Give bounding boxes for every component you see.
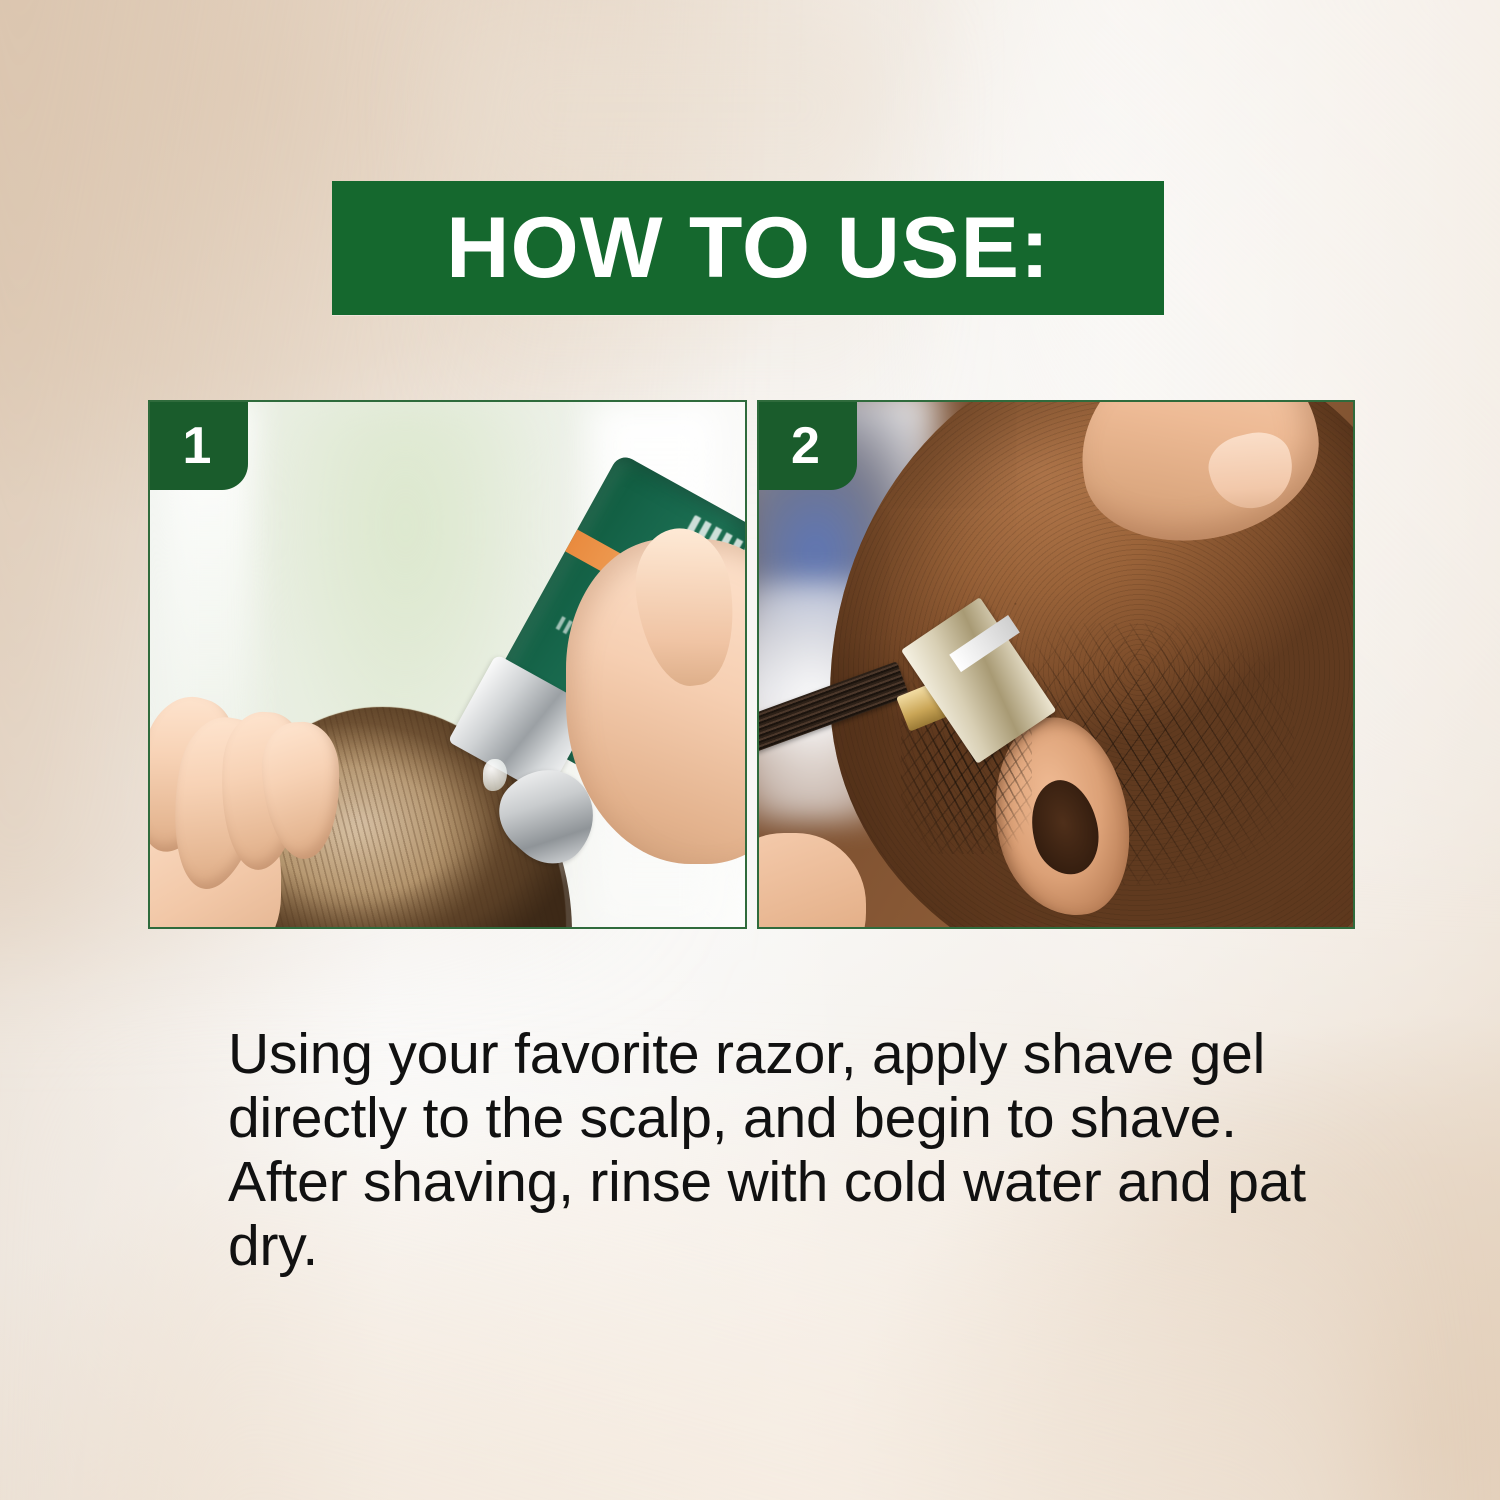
- step-badge-1: 1: [150, 402, 248, 490]
- step-number-2: 2: [791, 420, 824, 472]
- how-to-use-infographic: HOW TO USE:: [0, 0, 1500, 1500]
- page-title: HOW TO USE:: [446, 205, 1050, 291]
- instructions-block: Using your favorite razor, apply shave g…: [228, 1022, 1313, 1278]
- instructions-text: Using your favorite razor, apply shave g…: [228, 1022, 1313, 1278]
- photo-1-gel-drop: [483, 759, 507, 791]
- step-badge-2: 2: [759, 402, 857, 490]
- how-to-use-banner: HOW TO USE:: [332, 181, 1164, 315]
- step-panel-1: 1: [148, 400, 747, 929]
- step-panel-2: 2: [757, 400, 1356, 929]
- photo-2-lower-hand: [757, 833, 866, 930]
- step-number-1: 1: [183, 420, 216, 472]
- step-panels: 1 2: [148, 400, 1355, 929]
